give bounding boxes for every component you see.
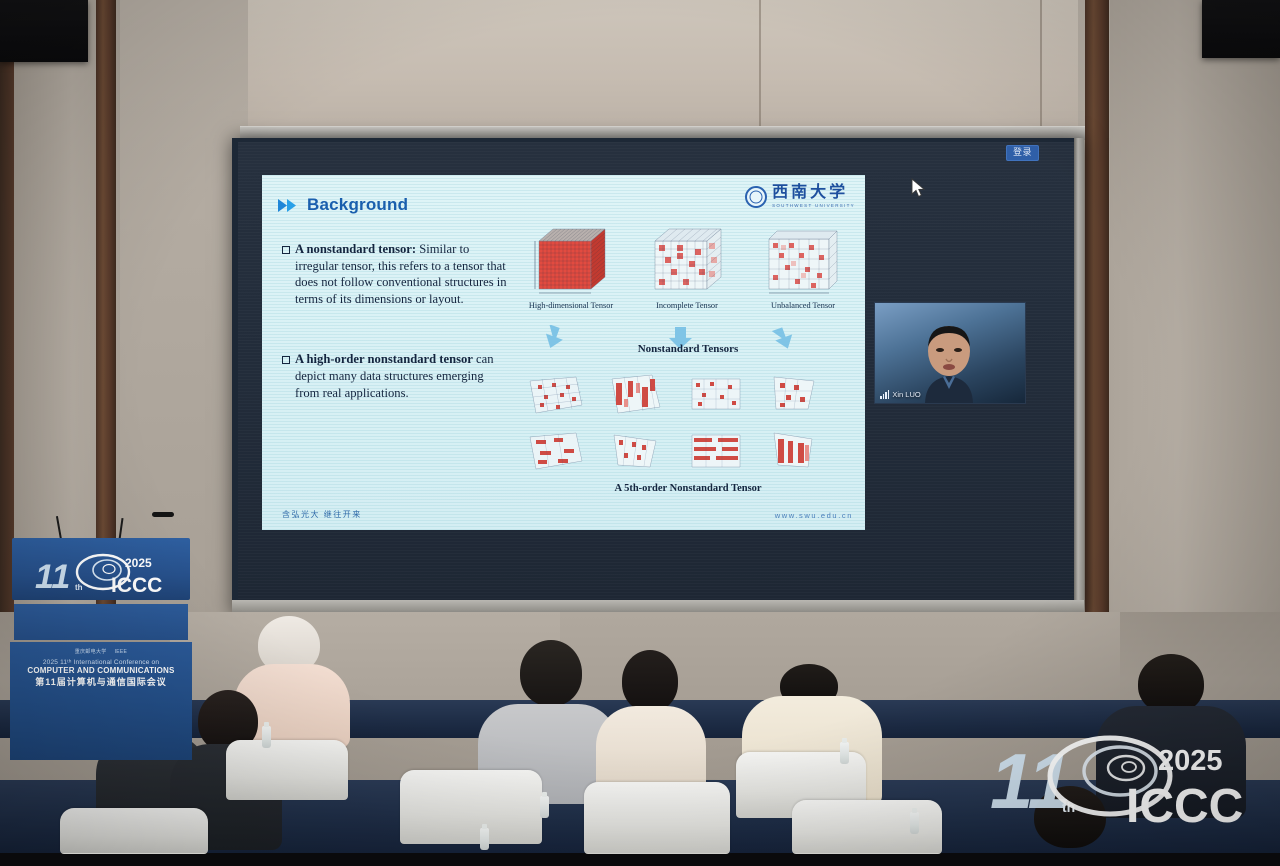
conference-room-scene: 登录 Background 西南大学 SOUTHWEST UNIVERSITY xyxy=(0,0,1280,853)
chair-back xyxy=(400,770,542,844)
water-bottle xyxy=(262,726,271,748)
upper-wall-panels xyxy=(248,0,1078,128)
chair-back xyxy=(226,740,348,800)
bullet-lead: A nonstandard tensor: xyxy=(295,242,416,256)
right-wall xyxy=(1110,0,1280,620)
microphone-head xyxy=(152,512,174,517)
fifth-order-label: A 5th-order Nonstandard Tensor xyxy=(520,483,856,494)
water-bottle xyxy=(910,812,919,834)
podium-org-row: 重庆邮电大学 IEEE xyxy=(10,648,192,655)
panel-seam xyxy=(1040,0,1042,128)
person-head xyxy=(520,640,582,706)
tensor-high-dimensional: High-dimensional Tensor xyxy=(520,223,622,310)
university-seal-icon xyxy=(745,186,767,208)
tensor-unbalanced: Unbalanced Tensor xyxy=(752,223,854,310)
podium-top-panel: 11 th 2025 ICCC xyxy=(12,538,190,600)
university-name-en: SOUTHWEST UNIVERSITY xyxy=(772,203,855,208)
presenter-video-feed[interactable]: Xin LUO xyxy=(874,302,1026,404)
tensor-caption: Unbalanced Tensor xyxy=(752,301,854,310)
tensor-diagram-group: High-dimensional Tensor xyxy=(520,223,856,515)
cube-sparse-icon xyxy=(645,223,729,297)
podium-line-1: 2025 11ᵗʰ International Conference on xyxy=(10,659,192,666)
tensor-incomplete: Incomplete Tensor xyxy=(636,223,738,310)
tensor-cell-icon xyxy=(524,369,598,421)
nonstandard-tensors-label: Nonstandard Tensors xyxy=(520,343,856,355)
bullet-lead: A high-order nonstandard tensor xyxy=(295,352,473,366)
university-name-block: 西南大学 SOUTHWEST UNIVERSITY xyxy=(772,185,855,208)
presenter-label: Xin LUO xyxy=(880,390,921,399)
audience-member xyxy=(596,650,706,790)
podium-logo: 11 th 2025 ICCC xyxy=(31,550,171,603)
podium-org-right: IEEE xyxy=(115,649,128,655)
bullet-text: A nonstandard tensor: Similar to irregul… xyxy=(295,241,510,307)
water-bottle xyxy=(480,828,489,850)
wood-column xyxy=(1085,0,1109,620)
presenter-name: Xin LUO xyxy=(892,390,920,399)
podium-line-2: COMPUTER AND COMMUNICATIONS xyxy=(10,666,192,675)
chair-back xyxy=(792,800,942,854)
slide-bullets: A nonstandard tensor: Similar to irregul… xyxy=(282,241,510,427)
person-head xyxy=(622,650,678,712)
list-item: A nonstandard tensor: Similar to irregul… xyxy=(282,241,510,307)
svg-text:2025: 2025 xyxy=(1158,745,1223,777)
top-tensor-row: High-dimensional Tensor xyxy=(520,223,856,310)
square-bullet-icon xyxy=(282,246,290,254)
podium-line-3: 第11届计算机与通信国际会议 xyxy=(10,675,192,688)
person-head xyxy=(1138,654,1204,714)
presenter-portrait xyxy=(913,317,985,404)
svg-text:2025: 2025 xyxy=(125,556,152,570)
conference-watermark: 11 th 2025 ICCC xyxy=(984,726,1274,836)
speaker-podium: 11 th 2025 ICCC 重庆邮电大学 IEEE 2025 11ᵗʰ In… xyxy=(4,530,194,760)
fifth-order-grid xyxy=(524,369,850,485)
cube-unbalanced-icon xyxy=(761,223,845,297)
svg-text:ICCC: ICCC xyxy=(1126,780,1243,833)
podium-lower-panel: 重庆邮电大学 IEEE 2025 11ᵗʰ International Conf… xyxy=(10,642,192,760)
svg-text:ICCC: ICCC xyxy=(111,574,162,597)
chair-back xyxy=(60,808,208,854)
tensor-cell-icon xyxy=(764,369,838,421)
slide-footer-motto: 含弘光大 继往开来 xyxy=(282,509,362,520)
grid-row xyxy=(524,369,850,421)
wood-column xyxy=(0,0,14,620)
signal-bars-icon xyxy=(880,391,889,399)
tensor-cell-icon xyxy=(684,427,758,479)
page-title: Background xyxy=(307,195,408,215)
tensor-cell-icon xyxy=(524,427,598,479)
presentation-slide: Background 西南大学 SOUTHWEST UNIVERSITY A n… xyxy=(262,175,865,530)
square-bullet-icon xyxy=(282,356,290,364)
panel-seam xyxy=(759,0,761,128)
ceiling-speaker-right xyxy=(1202,0,1280,58)
bullet-text: A high-order nonstandard tensor can depi… xyxy=(295,351,510,401)
water-bottle xyxy=(540,796,549,818)
cube-dense-icon xyxy=(529,223,613,297)
chair-back xyxy=(584,782,730,854)
screen-bezel-right xyxy=(1074,138,1084,616)
podium-mid-panel xyxy=(14,604,188,640)
slide-footer-url: www.swu.edu.cn xyxy=(775,511,853,520)
slide-header: Background xyxy=(278,195,408,215)
university-name-cn: 西南大学 xyxy=(772,185,855,201)
tensor-cell-icon xyxy=(604,369,678,421)
university-logo: 西南大学 SOUTHWEST UNIVERSITY xyxy=(745,185,855,208)
double-triangle-icon xyxy=(278,198,300,213)
login-button[interactable]: 登录 xyxy=(1006,145,1039,161)
svg-text:11: 11 xyxy=(35,558,70,596)
tensor-caption: High-dimensional Tensor xyxy=(520,301,622,310)
svg-text:th: th xyxy=(75,583,83,592)
wood-column xyxy=(96,0,116,620)
tensor-cell-icon xyxy=(684,369,758,421)
water-bottle xyxy=(840,742,849,764)
tensor-cell-icon xyxy=(764,427,838,479)
tensor-cell-icon xyxy=(604,427,678,479)
grid-row xyxy=(524,427,850,479)
svg-text:11: 11 xyxy=(990,737,1071,825)
list-item: A high-order nonstandard tensor can depi… xyxy=(282,351,510,401)
mouse-pointer-icon xyxy=(911,178,927,200)
tensor-caption: Incomplete Tensor xyxy=(636,301,738,310)
podium-org-left: 重庆邮电大学 xyxy=(75,648,107,655)
ceiling-speaker-left xyxy=(0,0,88,62)
